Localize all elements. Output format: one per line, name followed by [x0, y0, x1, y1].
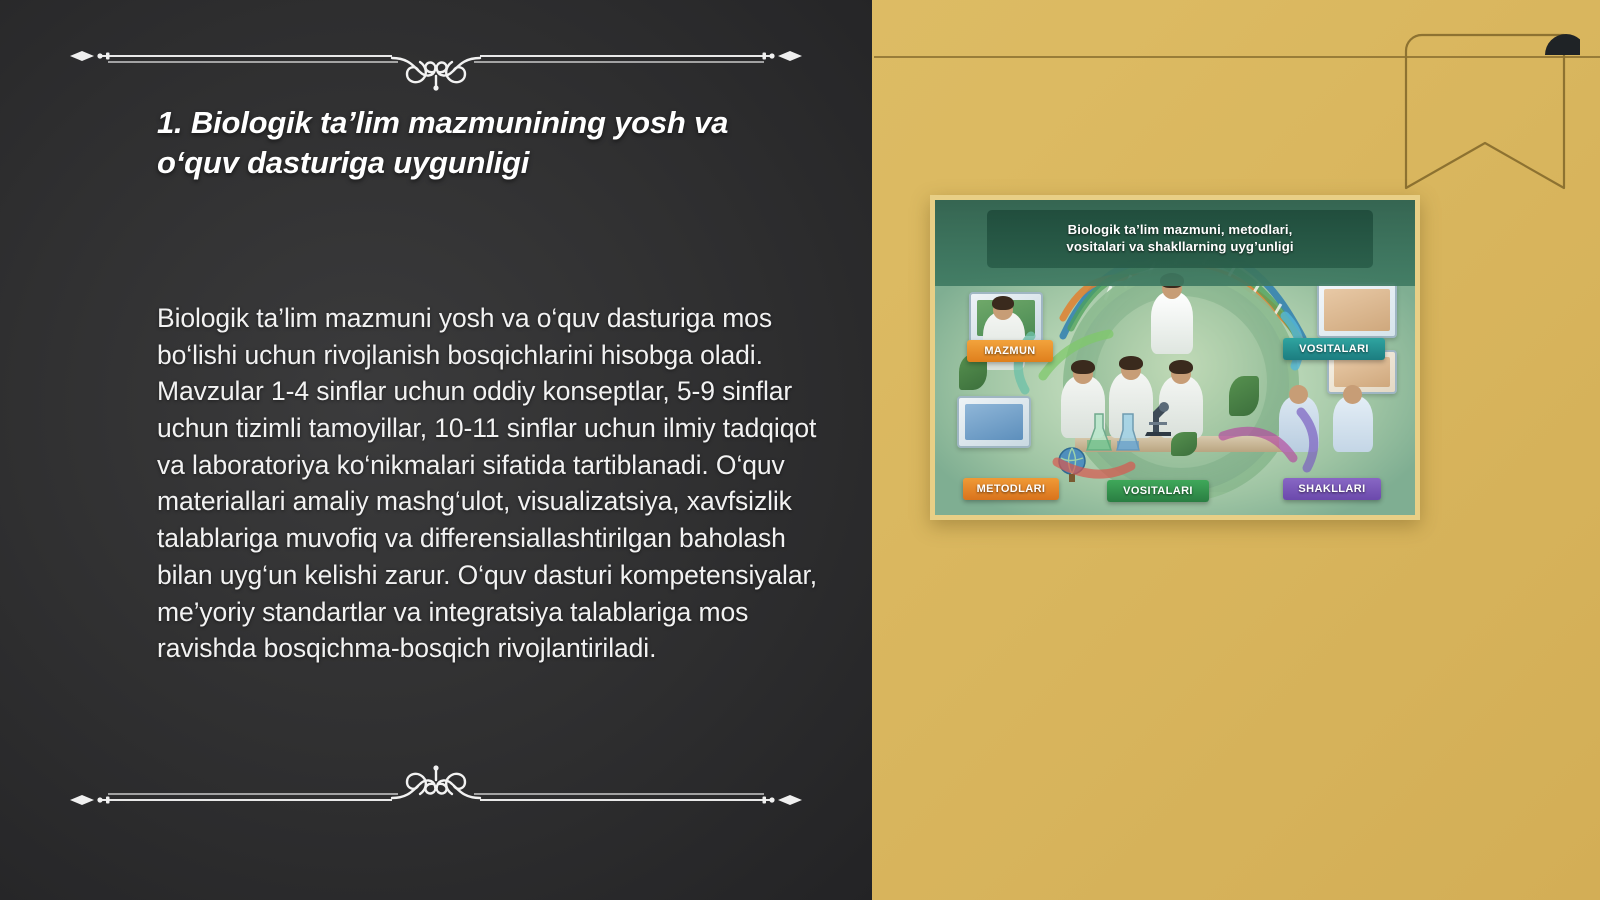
badge-mazmun: MAZMUN: [967, 340, 1053, 362]
page-title: 1. Biologik ta’lim mazmunining yosh va o…: [157, 103, 817, 184]
bookmark-ribbon: [1404, 33, 1580, 190]
badge-vositalari-top: VOSITALARI: [1283, 338, 1385, 360]
banner-title-line2: vositalari va shakllarning uyg’unligi: [1066, 239, 1293, 256]
slide-canvas: 1. Biologik ta’lim mazmunining yosh va o…: [0, 0, 1600, 900]
body-paragraph: Biologik ta’lim mazmuni yosh va o‘quv da…: [157, 300, 829, 667]
illustration-banner-title: Biologik ta’lim mazmuni, metodlari, vosi…: [1060, 222, 1299, 256]
left-content-panel: 1. Biologik ta’lim mazmunining yosh va o…: [0, 0, 872, 900]
banner-title-line1: Biologik ta’lim mazmuni, metodlari,: [1066, 222, 1293, 239]
illustration-card[interactable]: Biologik ta’lim mazmuni, metodlari, vosi…: [930, 195, 1420, 520]
banner-plate: Biologik ta’lim mazmuni, metodlari, vosi…: [987, 210, 1373, 268]
ornament-divider-bottom: [62, 762, 810, 824]
badge-shakllari: SHAKLLARI: [1283, 478, 1381, 500]
badge-vositalari-bottom: VOSITALARI: [1107, 480, 1209, 502]
ornament-divider-top: [62, 32, 810, 94]
badge-metodlari: METODLARI: [963, 478, 1059, 500]
